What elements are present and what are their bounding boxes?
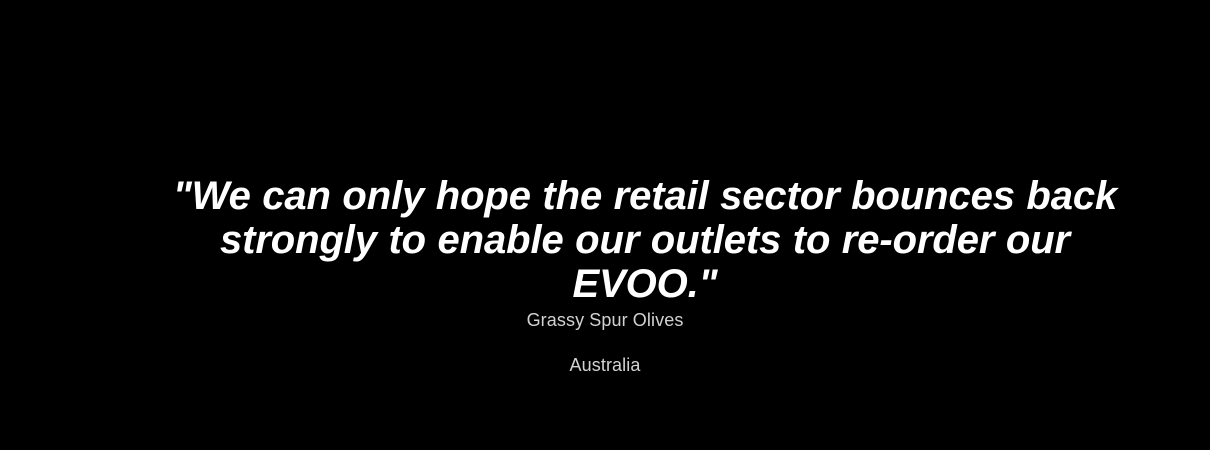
- attribution-block: Grassy Spur Olives Australia: [205, 307, 1005, 378]
- quote-block: "We can only hope the retail sector boun…: [142, 174, 1148, 306]
- attribution-company: Grassy Spur Olives: [205, 307, 1005, 333]
- testimonial-slide: "We can only hope the retail sector boun…: [0, 0, 1210, 450]
- attribution-country: Australia: [205, 352, 1005, 378]
- quote-text: "We can only hope the retail sector boun…: [142, 174, 1148, 306]
